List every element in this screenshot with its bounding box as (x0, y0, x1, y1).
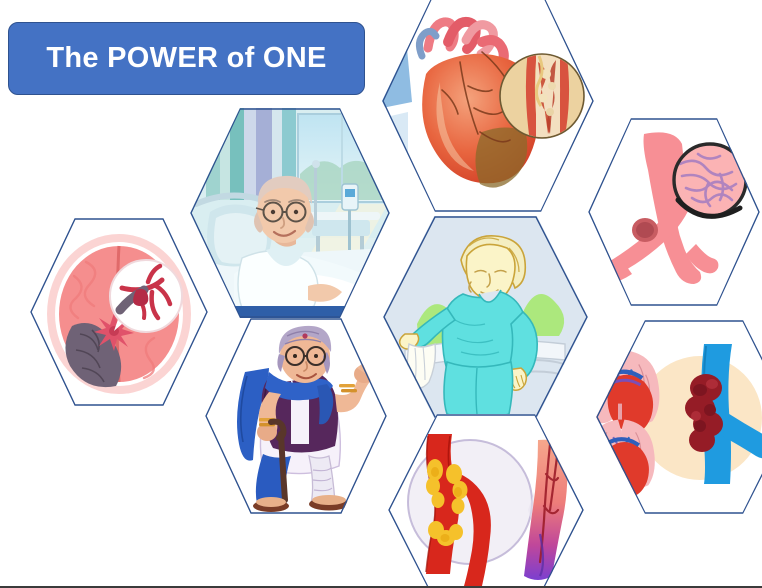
stroke-brain-icon (30, 218, 208, 406)
hexagon-elderly-woman-cane[interactable] (205, 318, 387, 514)
slide-canvas: The POWER of ONE (0, 0, 762, 588)
hexagon-elderly-man-hospital-bed[interactable] (190, 108, 390, 318)
hexagon-peripheral-artery-disease[interactable] (388, 414, 584, 588)
leg-vein-disease-icon (588, 118, 760, 306)
elderly-man-hospital-bed-icon (190, 108, 390, 318)
hexagon-elderly-woman-seated[interactable] (383, 216, 588, 418)
page-title: The POWER of ONE (46, 42, 326, 75)
title-banner: The POWER of ONE (8, 22, 365, 95)
hexagon-pulmonary-embolism[interactable] (596, 320, 762, 514)
heart-attack-icon (382, 0, 594, 212)
hexagon-heart-attack[interactable] (382, 0, 594, 212)
hexagon-leg-vein-disease[interactable] (588, 118, 760, 306)
pulmonary-embolism-icon (596, 320, 762, 514)
hexagon-stroke-brain[interactable] (30, 218, 208, 406)
peripheral-artery-disease-icon (388, 414, 584, 588)
elderly-woman-cane-icon (205, 318, 387, 514)
elderly-woman-seated-icon (383, 216, 588, 418)
